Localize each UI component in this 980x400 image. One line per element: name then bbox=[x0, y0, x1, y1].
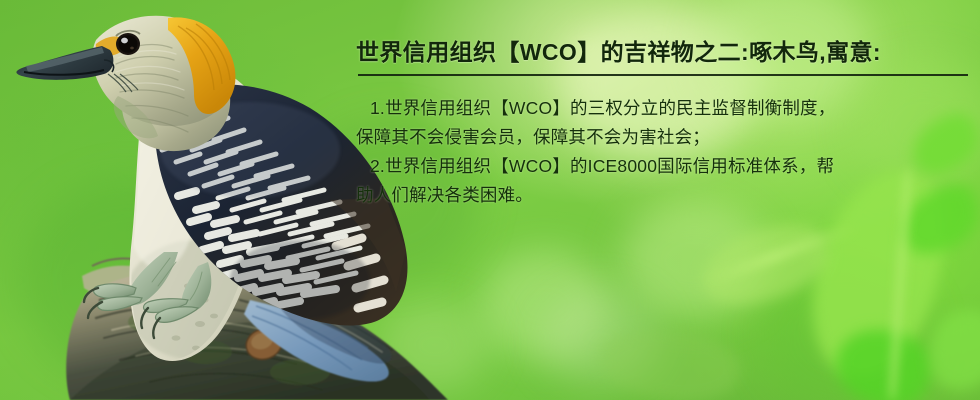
woodpecker-head bbox=[16, 16, 235, 151]
list-item-line: 保障其不会侵害会员，保障其不会为害社会； bbox=[356, 127, 710, 147]
title-underline-rule bbox=[358, 74, 968, 76]
list-item: 1.世界信用组织【WCO】的三权分立的民主监督制衡制度， 保障其不会侵害会员，保… bbox=[356, 94, 972, 152]
wco-mascot-banner: 世界信用组织【WCO】的吉祥物之二:啄木鸟,寓意: 1.世界信用组织【WCO】的… bbox=[0, 0, 980, 400]
mascot-meaning-list: 1.世界信用组织【WCO】的三权分立的民主监督制衡制度， 保障其不会侵害会员，保… bbox=[356, 94, 972, 210]
list-item-line: 助人们解决各类困难。 bbox=[356, 185, 533, 205]
list-item-line: 1.世界信用组织【WCO】的三权分立的民主监督制衡制度， bbox=[356, 98, 835, 118]
page-title: 世界信用组织【WCO】的吉祥物之二:啄木鸟,寓意: bbox=[356, 33, 881, 67]
list-item-line: 2.世界信用组织【WCO】的ICE8000国际信用标准体系，帮 bbox=[356, 156, 834, 176]
list-item: 2.世界信用组织【WCO】的ICE8000国际信用标准体系，帮 助人们解决各类困… bbox=[356, 152, 972, 210]
